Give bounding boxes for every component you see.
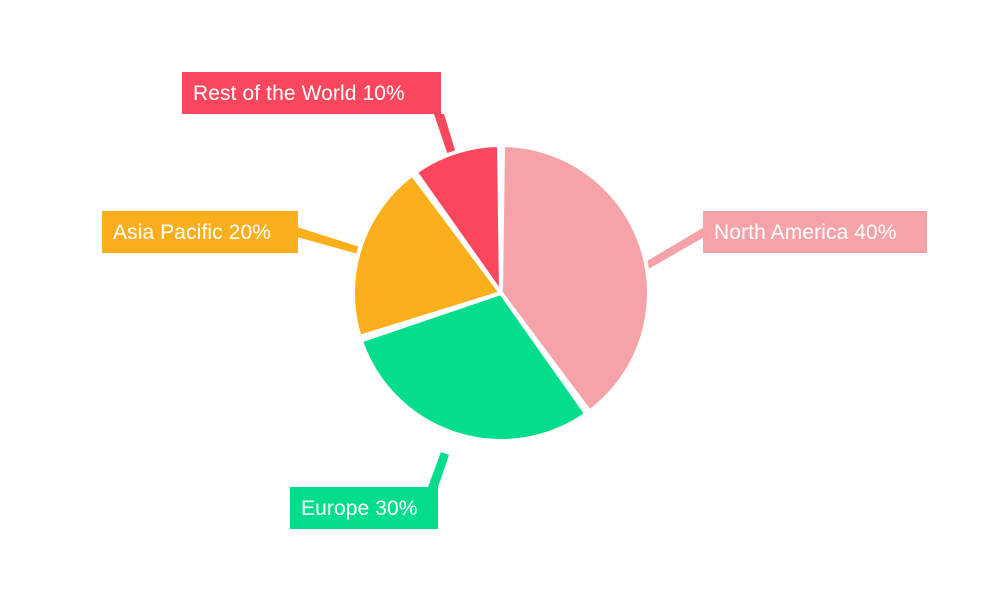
pie-label-europe-text: Europe 30% [301, 498, 418, 519]
leader-line-europe [428, 452, 449, 487]
pie-chart: North America 40% Europe 30% Asia Pacifi… [0, 0, 1000, 600]
pie-label-asia-pacific-text: Asia Pacific 20% [113, 222, 271, 243]
leader-line-north-america [642, 226, 706, 271]
pie-label-asia-pacific: Asia Pacific 20% [102, 211, 298, 253]
pie-chart-canvas [0, 0, 1000, 600]
pie-label-rest-of-world-text: Rest of the World 10% [193, 83, 405, 104]
leader-line-asia-pacific [297, 227, 360, 254]
pie-label-north-america-text: North America 40% [714, 222, 897, 243]
pie-label-north-america: North America 40% [703, 211, 927, 253]
pie-label-rest-of-world: Rest of the World 10% [182, 72, 441, 114]
pie-slices [353, 145, 649, 441]
pie-label-europe: Europe 30% [290, 487, 438, 529]
